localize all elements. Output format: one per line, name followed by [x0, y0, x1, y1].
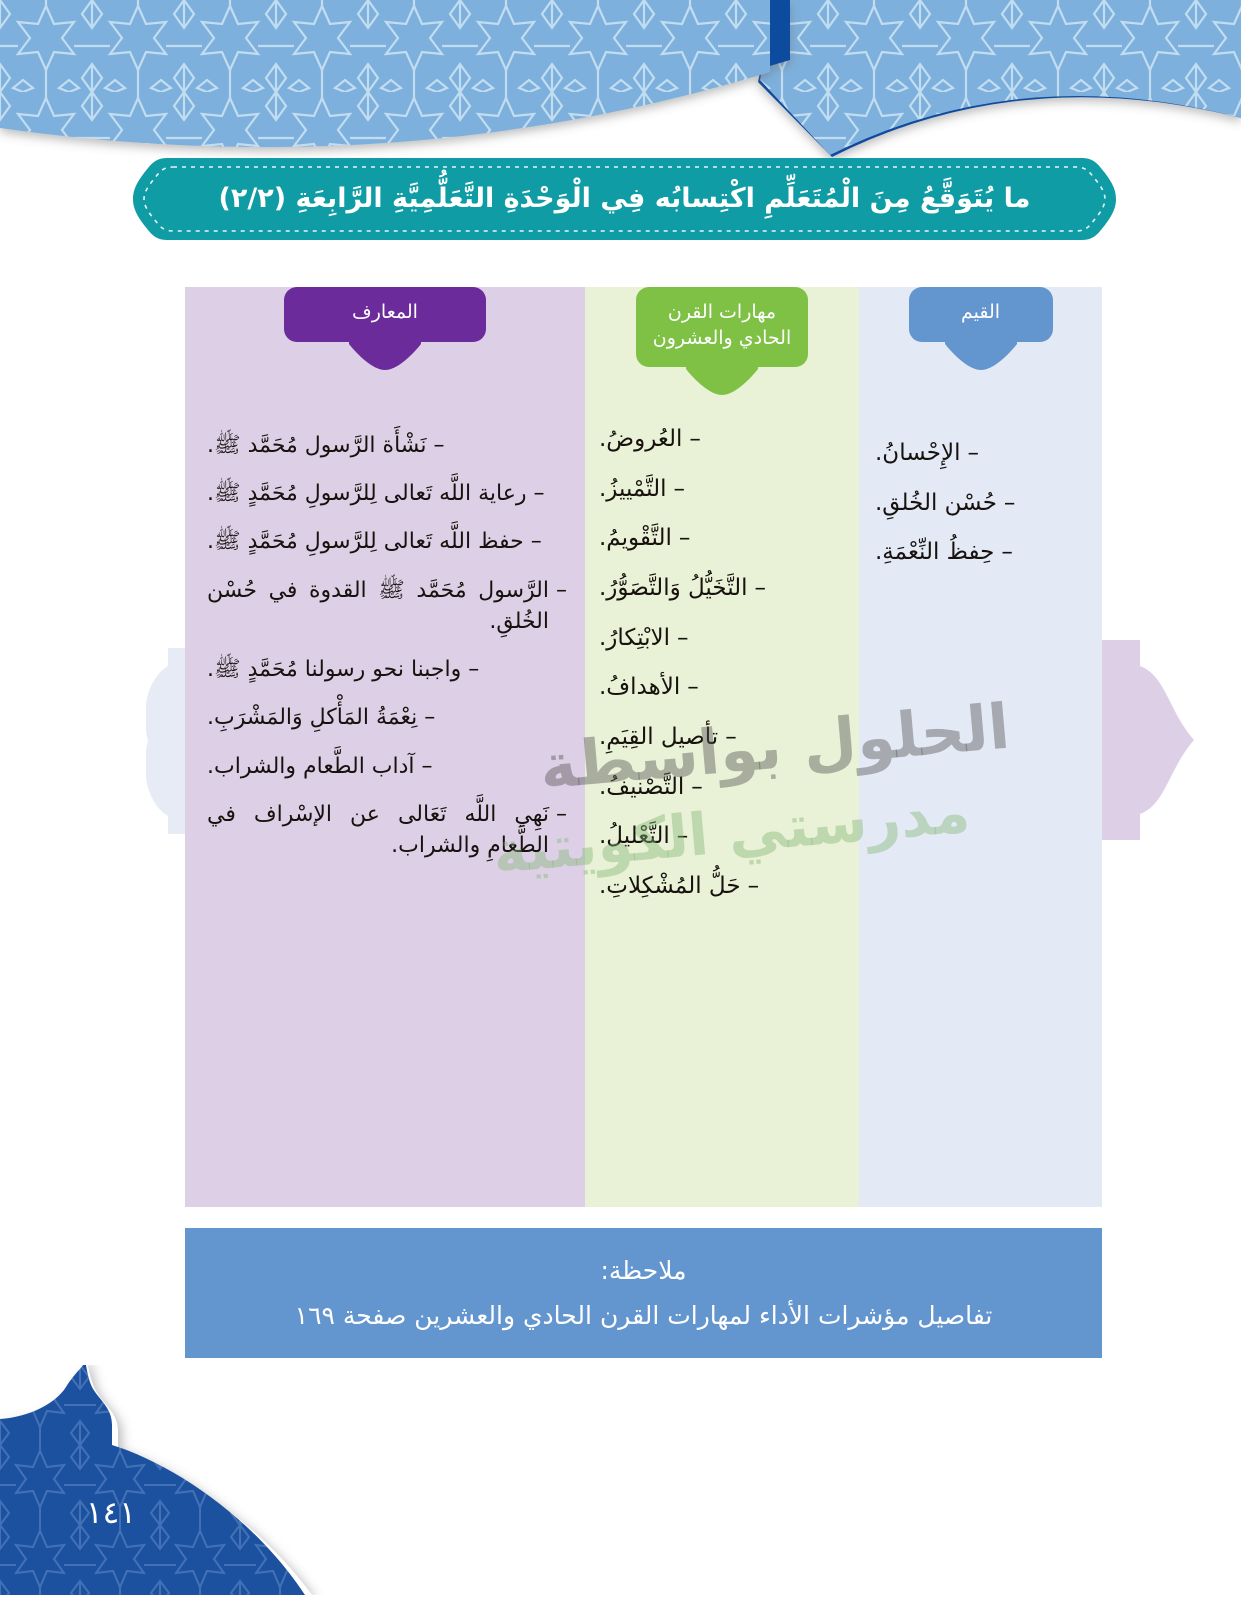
column-header-values: القيم — [909, 287, 1053, 342]
list-item: –التَّمْييزُ. — [599, 473, 845, 506]
list-dash: – — [1001, 536, 1013, 569]
list-item: –واجبنا نحو رسولنا مُحَمَّدٍ ﷺ. — [207, 654, 567, 685]
list-item: –رعاية اللَّه تَعالى لِلرَّسولِ مُحَمَّد… — [207, 478, 567, 509]
list-item: –التَّخَيُّلُ وَالتَّصَوُّرُ. — [599, 572, 845, 605]
list-item: –حَلُّ المُشْكِلاتِ. — [599, 870, 845, 903]
list-item: –حفظ اللَّه تَعالى لِلرَّسولِ مُحَمَّدٍ … — [207, 526, 567, 557]
list-item: – حُسْن الخُلقِ. — [875, 487, 1086, 520]
list-dash: – — [691, 771, 703, 804]
list-dash: – — [967, 437, 979, 470]
list-dash: – — [725, 721, 737, 754]
list-item: –العُروضُ. — [599, 423, 845, 456]
note-box: ملاحظة: تفاصيل مؤشرات الأداء لمهارات الق… — [185, 1228, 1102, 1358]
list-item: –الرَّسول مُحَمَّد ﷺ القدوة في حُسْن الخ… — [207, 575, 567, 637]
footer-dome-decoration — [0, 1365, 430, 1595]
column-header-knowledge: المعارف — [284, 287, 486, 342]
list-dash: – — [1004, 487, 1016, 520]
list-dash: – — [422, 751, 433, 782]
header-decoration — [0, 0, 1241, 160]
list-dash: – — [677, 820, 689, 853]
list-dash: – — [679, 522, 691, 555]
list-dash: – — [689, 423, 701, 456]
expectations-columns: القيم – الإِحْسانُ. – حُسْن الخُلقِ. – ح… — [185, 287, 1102, 1207]
column-header-values-label: القيم — [909, 287, 1053, 342]
list-item: –نَشْأَة الرَّسول مُحَمَّد ﷺ. — [207, 430, 567, 461]
unit-title-banner: ما يُتَوَقَّعُ مِنَ الْمُتَعَلِّمِ اكْتِ… — [133, 158, 1116, 240]
list-item: –الابْتِكارُ. — [599, 622, 845, 655]
list-dash: – — [556, 575, 567, 606]
list-dash: – — [748, 870, 760, 903]
column-values: القيم – الإِحْسانُ. – حُسْن الخُلقِ. – ح… — [859, 287, 1102, 1207]
list-item: –التَّصْنيفُ. — [599, 771, 845, 804]
list-item: –التَّقْويمُ. — [599, 522, 845, 555]
note-title: ملاحظة: — [600, 1256, 686, 1285]
list-item: –التَّعْليلُ. — [599, 820, 845, 853]
column-knowledge: المعارف –نَشْأَة الرَّسول مُحَمَّد ﷺ. –ر… — [185, 287, 585, 1207]
list-item: –الأهدافُ. — [599, 671, 845, 704]
list-item: –نِعْمَةُ المَأْكلِ وَالمَشْرَبِ. — [207, 702, 567, 733]
list-item: –تأصيل القِيَمِ. — [599, 721, 845, 754]
list-dash: – — [674, 473, 686, 506]
list-item: –آداب الطَّعام والشراب. — [207, 751, 567, 782]
list-item: – الإِحْسانُ. — [875, 437, 1086, 470]
note-body: تفاصيل مؤشرات الأداء لمهارات القرن الحاد… — [267, 1301, 1021, 1330]
list-dash: – — [434, 430, 445, 461]
list-dash: – — [531, 526, 542, 557]
list-dash: – — [556, 799, 567, 830]
list-dash: – — [677, 622, 689, 655]
list-dash: – — [468, 654, 479, 685]
column-skills: مهارات القرن الحادي والعشرون –العُروضُ. … — [585, 287, 859, 1207]
list-item: –نَهِي اللَّه تَعَالى عن الإسْراف في الط… — [207, 799, 567, 861]
list-dash: – — [533, 478, 544, 509]
column-header-skills-label: مهارات القرن الحادي والعشرون — [636, 287, 808, 367]
page-number: ١٤١ — [86, 1495, 136, 1531]
list-dash: – — [687, 671, 699, 704]
list-item: – حِفظُ النِّعْمَةِ. — [875, 536, 1086, 569]
list-dash: – — [755, 572, 767, 605]
unit-title-text: ما يُتَوَقَّعُ مِنَ الْمُتَعَلِّمِ اكْتِ… — [133, 158, 1116, 240]
column-header-knowledge-label: المعارف — [284, 287, 486, 342]
list-dash: – — [424, 702, 435, 733]
column-header-skills: مهارات القرن الحادي والعشرون — [636, 287, 808, 367]
column-knowledge-list: –نَشْأَة الرَّسول مُحَمَّد ﷺ. –رعاية الل… — [185, 287, 585, 878]
right-side-ornament — [1094, 640, 1199, 840]
